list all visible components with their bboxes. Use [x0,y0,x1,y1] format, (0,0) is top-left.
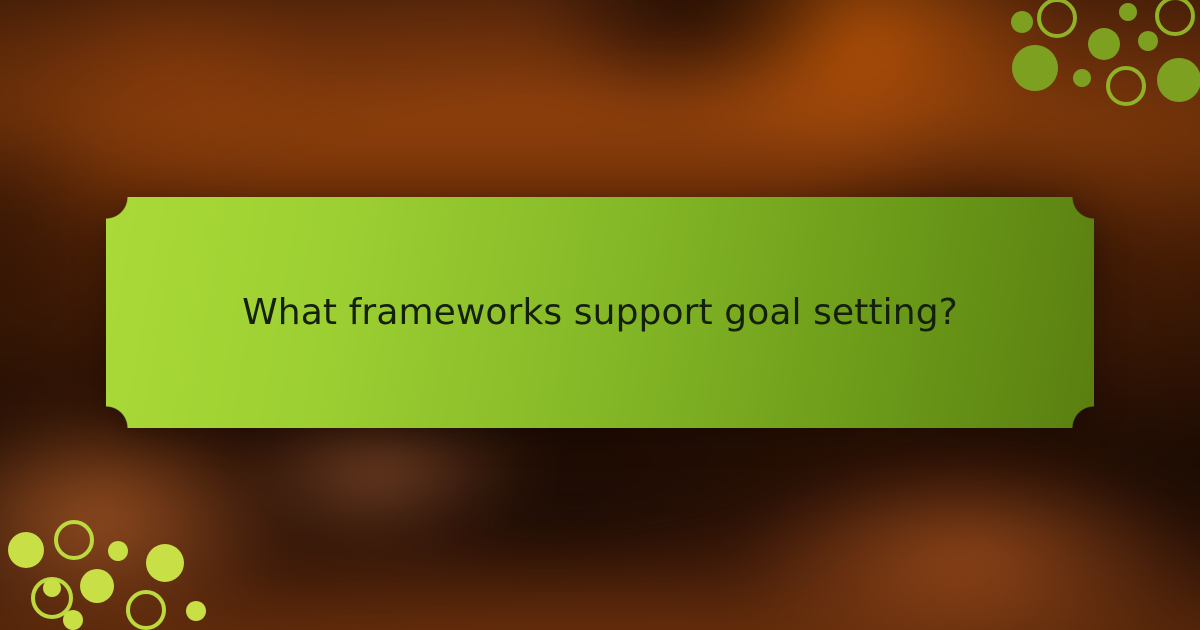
og-card-canvas: What frameworks support goal setting? [0,0,1200,630]
question-text: What frameworks support goal setting? [196,290,1004,335]
question-card: What frameworks support goal setting? [106,197,1094,428]
background-shadow-blob [250,416,844,607]
